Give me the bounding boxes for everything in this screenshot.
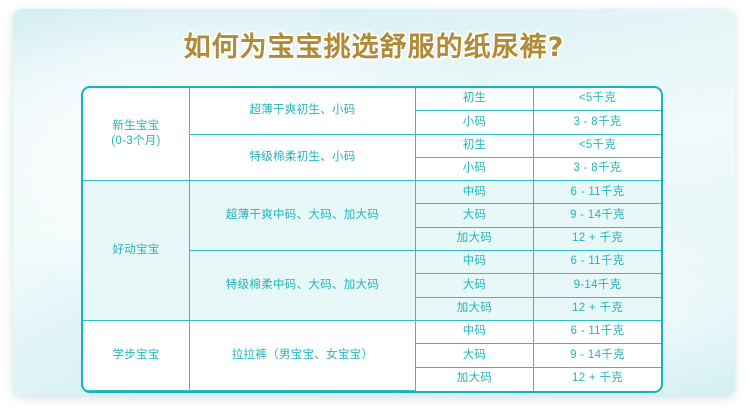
size-cell: 中码 bbox=[416, 251, 534, 274]
product-cell: 超薄干爽中码、大码、加大码 bbox=[190, 181, 416, 251]
weight-cell: 6 - 11千克 bbox=[534, 251, 661, 274]
weight-cell: 9 - 14千克 bbox=[534, 204, 661, 227]
weight-cell: 3 - 8千克 bbox=[534, 111, 661, 134]
stage-label: 学步宝宝 bbox=[112, 349, 159, 361]
stage-cell: 新生宝宝(0-3个月) bbox=[83, 88, 190, 181]
size-cell: 中码 bbox=[416, 321, 534, 344]
weight-cell: 9-14千克 bbox=[534, 274, 661, 297]
diaper-size-table-container: 新生宝宝(0-3个月)超薄干爽初生、小码初生<5千克小码3 - 8千克特级棉柔初… bbox=[81, 86, 659, 393]
screenshot-root: 如何为宝宝挑选舒服的纸尿裤? 新生宝宝(0-3个月)超薄干爽初生、小码初生<5千… bbox=[0, 0, 750, 411]
table-body: 新生宝宝(0-3个月)超薄干爽初生、小码初生<5千克小码3 - 8千克特级棉柔初… bbox=[83, 88, 661, 391]
size-cell: 初生 bbox=[416, 88, 534, 111]
size-cell: 加大码 bbox=[416, 298, 534, 321]
stage-cell: 好动宝宝 bbox=[83, 181, 190, 321]
info-card: 如何为宝宝挑选舒服的纸尿裤? 新生宝宝(0-3个月)超薄干爽初生、小码初生<5千… bbox=[13, 9, 735, 396]
weight-cell: 12 + 千克 bbox=[534, 298, 661, 321]
weight-cell: 6 - 11千克 bbox=[534, 321, 661, 344]
size-cell: 大码 bbox=[416, 274, 534, 297]
table-row: 学步宝宝拉拉裤（男宝宝、女宝宝）中码6 - 11千克 bbox=[83, 321, 661, 344]
stage-label: 新生宝宝 bbox=[112, 120, 159, 132]
diaper-size-table: 新生宝宝(0-3个月)超薄干爽初生、小码初生<5千克小码3 - 8千克特级棉柔初… bbox=[81, 86, 663, 393]
weight-cell: 12 + 千克 bbox=[534, 228, 661, 251]
size-cell: 大码 bbox=[416, 344, 534, 367]
size-cell: 中码 bbox=[416, 181, 534, 204]
page-title: 如何为宝宝挑选舒服的纸尿裤? bbox=[184, 25, 565, 64]
weight-cell: <5千克 bbox=[534, 88, 661, 111]
stage-cell: 学步宝宝 bbox=[83, 321, 190, 391]
table-row: 新生宝宝(0-3个月)超薄干爽初生、小码初生<5千克 bbox=[83, 88, 661, 111]
size-cell: 大码 bbox=[416, 204, 534, 227]
weight-cell: 6 - 11千克 bbox=[534, 181, 661, 204]
weight-cell: 9 - 14千克 bbox=[534, 344, 661, 367]
size-cell: 小码 bbox=[416, 111, 534, 134]
table-row: 好动宝宝超薄干爽中码、大码、加大码中码6 - 11千克 bbox=[83, 181, 661, 204]
size-cell: 小码 bbox=[416, 158, 534, 181]
size-cell: 加大码 bbox=[416, 368, 534, 391]
weight-cell: <5千克 bbox=[534, 135, 661, 158]
page-title-container: 如何为宝宝挑选舒服的纸尿裤? bbox=[13, 25, 735, 64]
size-cell: 初生 bbox=[416, 135, 534, 158]
stage-age-note: (0-3个月) bbox=[83, 134, 189, 150]
weight-cell: 12 + 千克 bbox=[534, 368, 661, 391]
product-cell: 拉拉裤（男宝宝、女宝宝） bbox=[190, 321, 416, 391]
product-cell: 特级棉柔初生、小码 bbox=[190, 135, 416, 182]
product-cell: 超薄干爽初生、小码 bbox=[190, 88, 416, 135]
stage-label: 好动宝宝 bbox=[112, 244, 159, 256]
product-cell: 特级棉柔中码、大码、加大码 bbox=[190, 251, 416, 321]
size-cell: 加大码 bbox=[416, 228, 534, 251]
weight-cell: 3 - 8千克 bbox=[534, 158, 661, 181]
